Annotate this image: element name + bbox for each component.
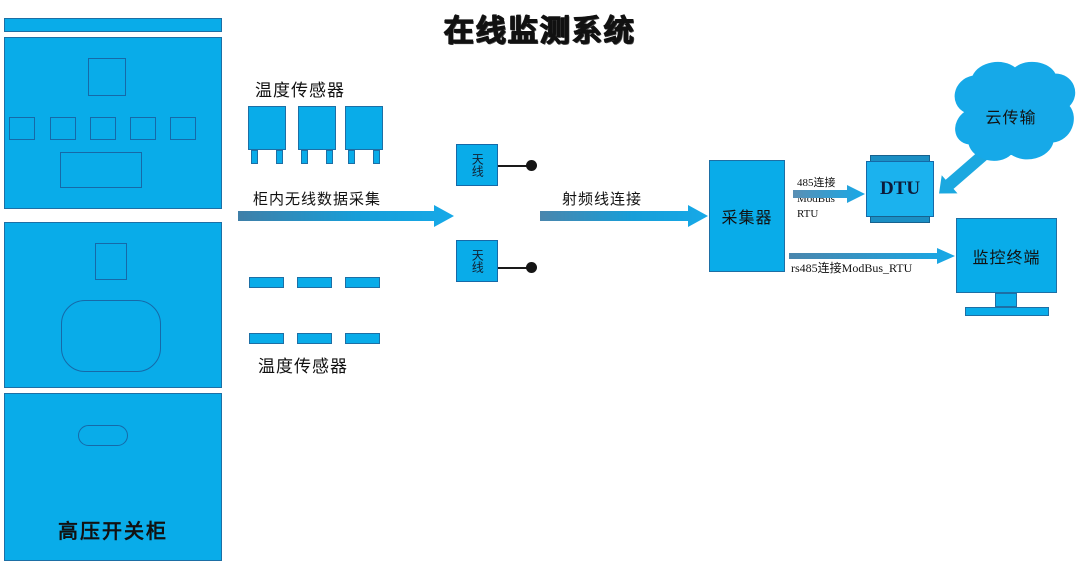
dtu-label: DTU xyxy=(880,178,920,200)
sensor-leg-right xyxy=(276,150,283,164)
rs485-label-line3: RTU xyxy=(797,208,818,220)
cabinet-indicator-1 xyxy=(9,117,35,140)
antenna-box-1[interactable]: 天线 xyxy=(456,144,498,186)
monitor-stand-neck xyxy=(995,293,1017,307)
diagram-canvas: 在线监测系统 高压开关柜 温度传感器 柜内无线数据采集 xyxy=(0,0,1080,566)
sensor-body xyxy=(298,106,336,150)
antenna-dot-icon-1 xyxy=(526,160,537,171)
temperature-sensor-label-bottom: 温度传感器 xyxy=(258,352,348,377)
antenna-stub-line-2 xyxy=(498,267,528,269)
cabinet-lower-pill xyxy=(78,425,128,446)
temperature-sensor-2 xyxy=(298,106,336,164)
bar-sensor-3 xyxy=(345,277,380,288)
antenna-label-2: 天线 xyxy=(471,249,484,273)
antenna-stub-line-1 xyxy=(498,165,528,167)
bar-sensor-4 xyxy=(249,333,284,344)
dtu-box[interactable]: DTU xyxy=(866,155,934,223)
cabinet-top-bar xyxy=(4,18,222,32)
bar-sensor-2 xyxy=(297,277,332,288)
temperature-sensor-3 xyxy=(345,106,383,164)
sensor-leg-right xyxy=(373,150,380,164)
terminal-label: 监控终端 xyxy=(972,244,1040,268)
collector-label: 采集器 xyxy=(721,204,772,228)
rs485-dtu-arrow xyxy=(793,185,865,203)
collector-box[interactable]: 采集器 xyxy=(709,160,785,272)
temperature-sensor-1 xyxy=(248,106,286,164)
antenna-label-1: 天线 xyxy=(471,153,484,177)
cabinet-label: 高压开关柜 xyxy=(4,515,222,544)
sensor-leg-left xyxy=(301,150,308,164)
cabinet-indicator-4 xyxy=(130,117,156,140)
antenna-dot-icon-2 xyxy=(526,262,537,273)
rs485-terminal-label: rs485连接ModBus_RTU xyxy=(791,259,912,276)
sensor-leg-left xyxy=(251,150,258,164)
bar-sensor-1 xyxy=(249,277,284,288)
rf-cable-arrow xyxy=(540,205,708,227)
sensor-leg-left xyxy=(348,150,355,164)
temperature-sensor-label-top: 温度传感器 xyxy=(255,76,345,101)
cabinet-middle-square xyxy=(95,243,127,280)
bar-sensor-5 xyxy=(297,333,332,344)
cabinet-breaker-round xyxy=(61,300,161,372)
monitor-icon-screen[interactable]: 监控终端 xyxy=(956,218,1057,293)
sensor-body xyxy=(248,106,286,150)
dtu-body: DTU xyxy=(866,161,934,217)
antenna-box-2[interactable]: 天线 xyxy=(456,240,498,282)
monitor-stand-base xyxy=(965,307,1049,316)
bar-sensor-6 xyxy=(345,333,380,344)
wireless-collect-arrow xyxy=(238,205,454,227)
cabinet-meter-square xyxy=(88,58,126,96)
dtu-bottom-band xyxy=(870,216,930,223)
cabinet-indicator-5 xyxy=(170,117,196,140)
cabinet-indicator-3 xyxy=(90,117,116,140)
sensor-body xyxy=(345,106,383,150)
sensor-leg-right xyxy=(326,150,333,164)
cabinet-panel-rect xyxy=(60,152,142,188)
cloud-label: 云传输 xyxy=(945,104,1077,128)
cabinet-indicator-2 xyxy=(50,117,76,140)
